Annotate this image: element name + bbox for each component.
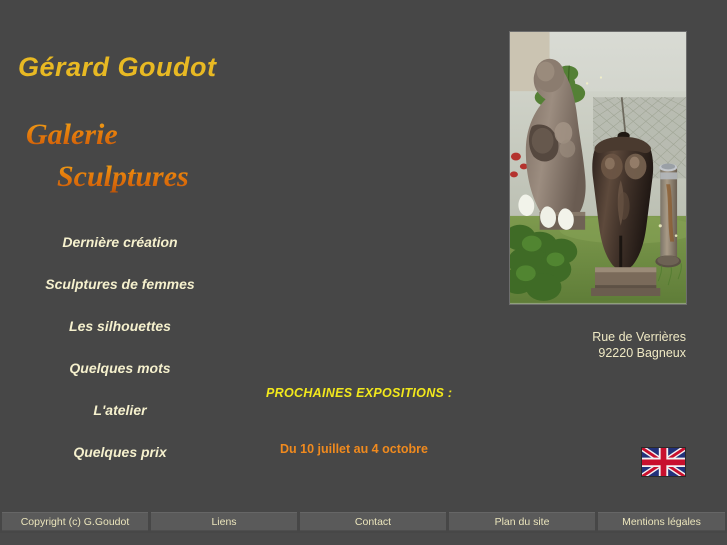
sculpture-photo: [509, 31, 687, 305]
nav-item-latelier[interactable]: L'atelier: [0, 400, 240, 442]
page-title: Gérard Goudot: [18, 52, 217, 83]
nav-item-derniere-creation[interactable]: Dernière création: [0, 232, 240, 274]
nav-item-les-silhouettes[interactable]: Les silhouettes: [0, 316, 240, 358]
sculpture-photo-image: [510, 32, 686, 303]
footer-contact[interactable]: Contact: [300, 512, 446, 531]
main-navigation: Dernière création Sculptures de femmes L…: [0, 232, 240, 484]
footer-copyright[interactable]: Copyright (c) G.Goudot: [2, 512, 148, 531]
subtitle-galerie: Galerie: [26, 118, 118, 152]
address-city: 92220 Bagneux: [592, 345, 686, 361]
studio-address: Rue de Verrières 92220 Bagneux: [592, 329, 686, 361]
exposition-heading: PROCHAINES EXPOSITIONS :: [266, 386, 452, 400]
footer-links: Copyright (c) G.Goudot Liens Contact Pla…: [0, 512, 727, 531]
footer-strip: [0, 533, 727, 545]
footer-mentions-legales[interactable]: Mentions légales: [598, 512, 725, 531]
nav-item-quelques-prix[interactable]: Quelques prix: [0, 442, 240, 484]
footer-liens[interactable]: Liens: [151, 512, 297, 531]
footer-bar: Copyright (c) G.Goudot Liens Contact Pla…: [0, 508, 727, 545]
subtitle-sculptures: Sculptures: [57, 160, 189, 194]
exposition-dates: Du 10 juillet au 4 octobre: [280, 442, 428, 456]
nav-item-sculptures-de-femmes[interactable]: Sculptures de femmes: [0, 274, 240, 316]
language-switch-english[interactable]: [641, 447, 686, 477]
footer-plan-du-site[interactable]: Plan du site: [449, 512, 595, 531]
nav-item-quelques-mots[interactable]: Quelques mots: [0, 358, 240, 400]
uk-flag-icon: [642, 448, 685, 477]
address-street: Rue de Verrières: [592, 329, 686, 345]
page-root: Gérard Goudot Galerie Sculptures Dernièr…: [0, 0, 727, 545]
